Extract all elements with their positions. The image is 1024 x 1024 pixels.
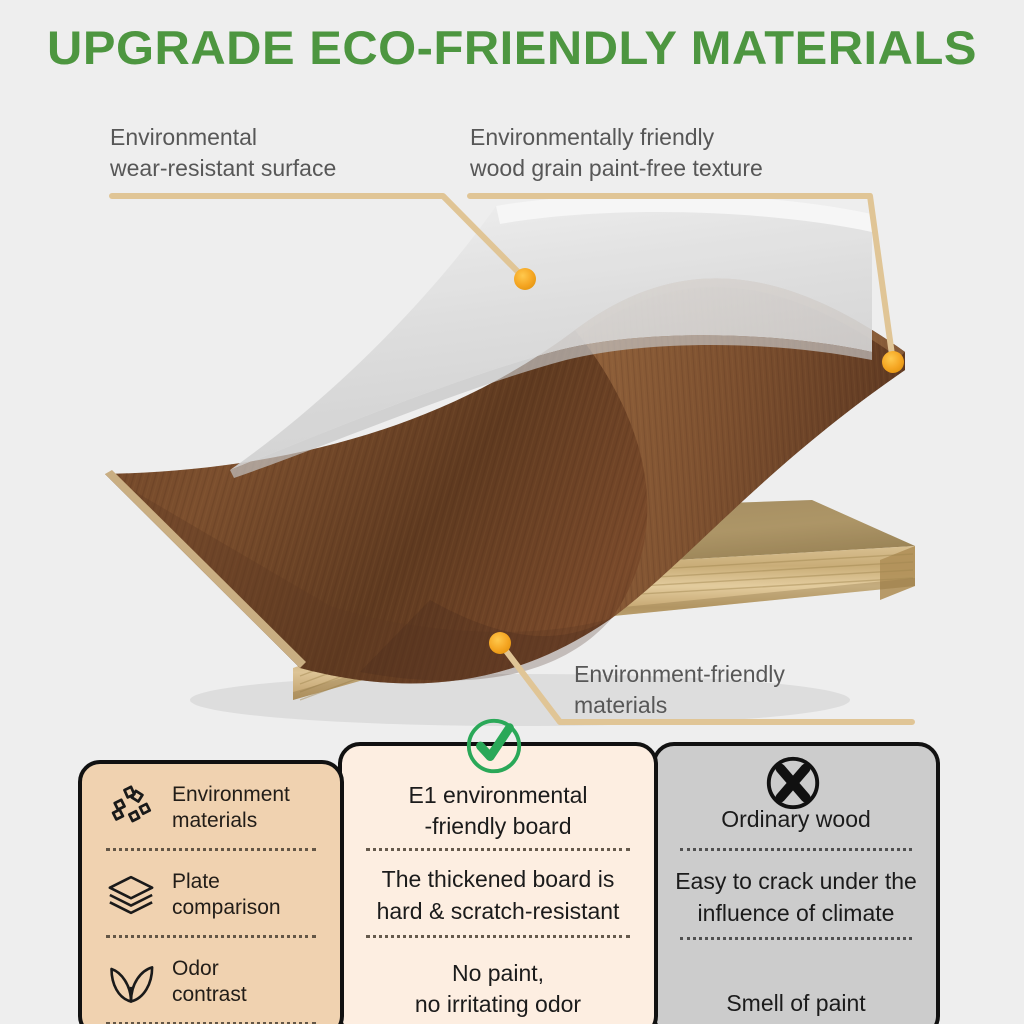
recycle-icon: [104, 782, 158, 834]
attribute-row-plate-comparison: Plate comparison: [96, 857, 326, 931]
leader-dot-3: [489, 632, 511, 654]
callout-label-wear-resistant-surface: Environmental wear-resistant surface: [110, 122, 336, 184]
callout-label-environment-friendly-materials: Environment-friendly materials: [574, 659, 785, 721]
attribute-label: Environment materials: [172, 782, 290, 834]
ordinary-wood-row-2: Easy to crack under the influence of cli…: [670, 857, 922, 933]
callout-label-wood-grain-texture: Environmentally friendly wood grain pain…: [470, 122, 763, 184]
eco-board-row-1: E1 environmental -friendly board: [356, 780, 640, 844]
row-divider: [680, 848, 912, 851]
layers-icon: [104, 869, 158, 921]
row-divider: [106, 848, 316, 851]
leaf-icon: [104, 956, 158, 1008]
row-divider: [106, 935, 316, 938]
attribute-row-environment-materials: Environment materials: [96, 770, 326, 844]
ordinary-wood-row-3: Smell of paint: [670, 946, 922, 1024]
check-circle-icon: [463, 716, 525, 778]
attribute-row-odor-contrast: Odor contrast: [96, 944, 326, 1018]
eco-board-row-2: The thickened board is hard & scratch-re…: [356, 857, 640, 931]
eco-board-row-3: No paint, no irritating odor: [356, 944, 640, 1022]
x-circle-icon: [762, 752, 824, 814]
attribute-label: Plate comparison: [172, 869, 281, 921]
leader-dot-2: [882, 351, 904, 373]
row-divider: [366, 935, 630, 938]
comparison-panel-eco-board: E1 environmental -friendly board The thi…: [338, 742, 658, 1024]
leader-dot-1: [514, 268, 536, 290]
comparison-panel-attributes: Environment materials Plate comparison: [78, 760, 344, 1024]
row-divider: [366, 848, 630, 851]
attribute-label: Odor contrast: [172, 956, 247, 1008]
row-divider: [680, 937, 912, 940]
infographic-canvas: UPGRADE ECO-FRIENDLY MATERIALS: [0, 0, 1024, 1024]
